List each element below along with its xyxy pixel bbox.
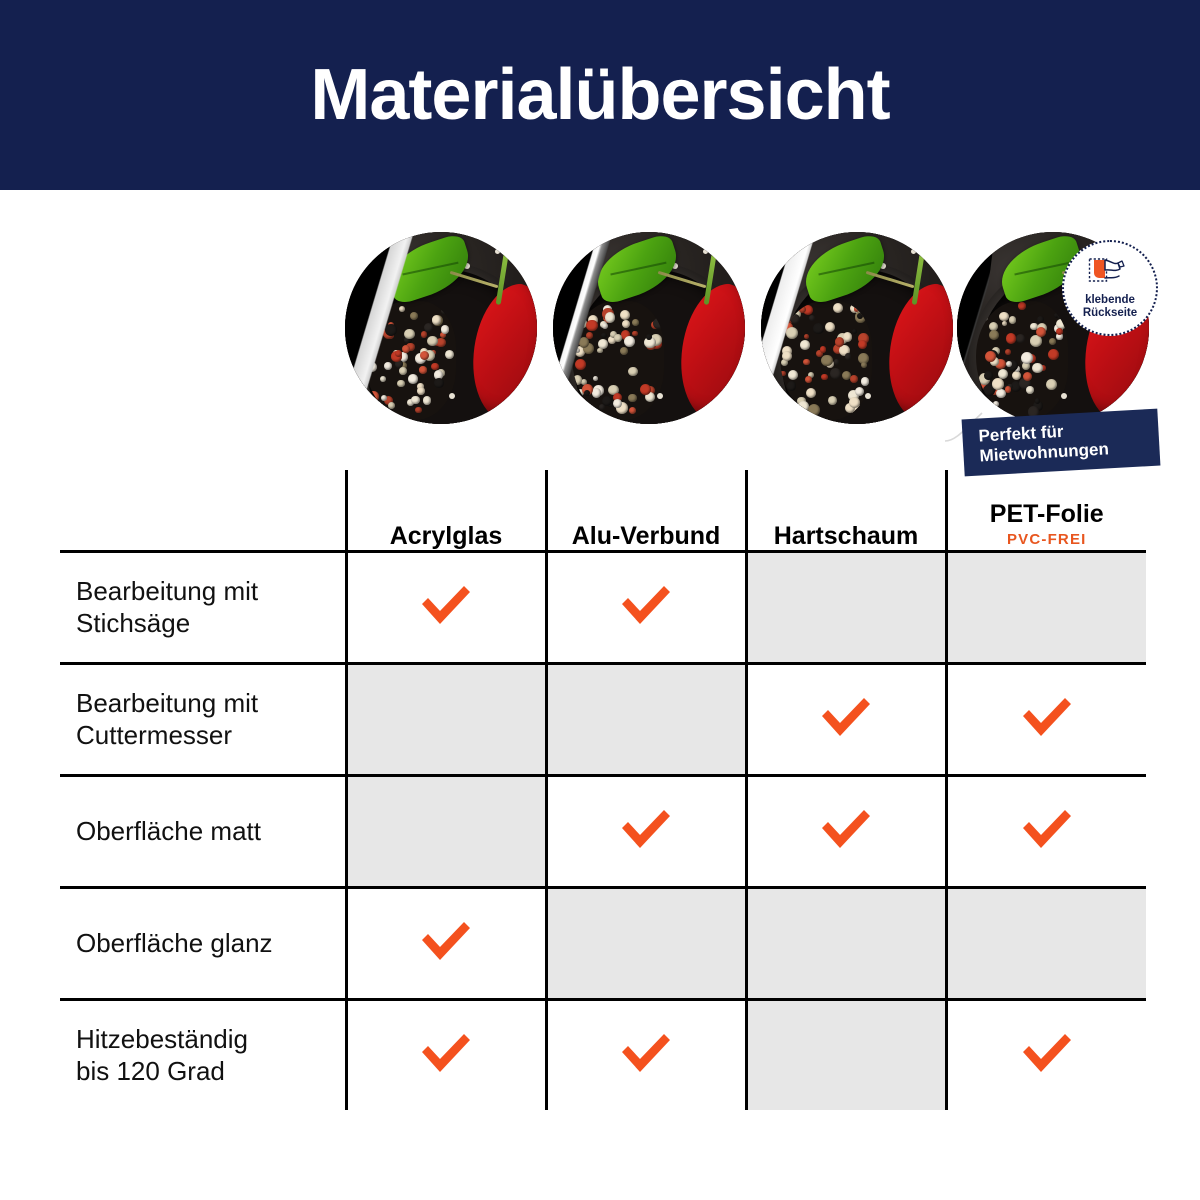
peppercorn: [445, 350, 454, 359]
mietwohnungen-ribbon: Perfekt für Mietwohnungen: [962, 409, 1161, 477]
peppercorn: [653, 404, 661, 412]
peppercorn: [992, 378, 1004, 390]
peppercorn: [632, 331, 638, 337]
cell-supported: [746, 664, 946, 776]
cell-supported: [546, 776, 746, 888]
peppercorn: [1006, 333, 1017, 344]
peppercorn: [646, 334, 652, 340]
cell-not-supported: [946, 888, 1146, 1000]
peppercorn: [1049, 338, 1056, 345]
table-row: Bearbeitung mitStichsäge: [60, 552, 1146, 664]
product-image-hartschaum: [761, 232, 953, 424]
peppercorn: [1023, 372, 1032, 381]
klebende-rueckseite-badge: klebende Rückseite: [1062, 240, 1158, 336]
peppercorn: [999, 312, 1009, 322]
cell-supported: [546, 552, 746, 664]
peel-sticker-icon: [1088, 257, 1132, 292]
peppercorn: [420, 351, 429, 360]
column-header-acrylglas: Acrylglas: [346, 470, 546, 552]
table-header-row: AcrylglasAlu-VerbundHartschaumPET-FolieP…: [60, 470, 1146, 552]
peppercorn: [423, 396, 431, 404]
peppercorn: [434, 378, 444, 388]
table-body: Bearbeitung mitStichsägeBearbeitung mitC…: [60, 552, 1146, 1111]
peppercorn: [417, 387, 425, 395]
column-header-pet-folie: PET-FoliePVC-FREI: [946, 470, 1146, 552]
cell-not-supported: [346, 664, 546, 776]
material-comparison-table: AcrylglasAlu-VerbundHartschaumPET-FolieP…: [60, 470, 1146, 1110]
peppercorn-speck: [657, 393, 663, 399]
row-label: Bearbeitung mitStichsäge: [60, 552, 346, 664]
badge-line-2: Rückseite: [1083, 307, 1137, 320]
peppercorn: [993, 401, 999, 407]
product-photo: [345, 232, 537, 424]
peppercorn: [1016, 334, 1025, 343]
peppercorn: [821, 374, 828, 381]
cell-not-supported: [746, 552, 946, 664]
peppercorn: [861, 377, 870, 386]
header-cell-label: [60, 470, 346, 552]
material-comparison-table-wrapper: AcrylglasAlu-VerbundHartschaumPET-FolieP…: [60, 470, 1146, 1110]
peppercorn: [850, 375, 858, 383]
peppercorn: [835, 337, 845, 347]
table-head: AcrylglasAlu-VerbundHartschaumPET-FolieP…: [60, 470, 1146, 552]
table-row: Hitzebeständigbis 120 Grad: [60, 1000, 1146, 1111]
peppercorn: [415, 407, 422, 414]
peppercorn: [441, 325, 449, 333]
peppercorn-speck: [449, 393, 455, 399]
peppercorn-speck: [1061, 393, 1067, 399]
cell-not-supported: [346, 776, 546, 888]
row-label-line-2: bis 120 Grad: [76, 1056, 345, 1088]
peppercorn: [629, 407, 636, 414]
peppercorn: [845, 353, 851, 359]
peppercorn: [1046, 379, 1057, 390]
column-header-name: Acrylglas: [348, 523, 545, 551]
peppercorn: [1035, 398, 1041, 404]
cell-not-supported: [946, 552, 1146, 664]
peppercorn: [989, 330, 999, 340]
peppercorn: [1048, 349, 1060, 361]
cell-supported: [946, 776, 1146, 888]
row-label: Oberfläche matt: [60, 776, 346, 888]
peppercorn: [1002, 321, 1007, 326]
peppercorn: [1026, 386, 1034, 394]
peppercorn: [1036, 327, 1046, 337]
peppercorn: [821, 355, 833, 367]
product-image-acrylglas: [345, 232, 537, 424]
row-label: Hitzebeständigbis 120 Grad: [60, 1000, 346, 1111]
cell-supported: [346, 888, 546, 1000]
peppercorn: [624, 336, 635, 347]
cell-supported: [346, 552, 546, 664]
peppercorn: [1005, 349, 1011, 355]
peppercorn: [1021, 352, 1033, 364]
peppercorn: [1032, 363, 1042, 373]
row-label-line-1: Oberfläche matt: [76, 816, 345, 848]
peppercorn: [628, 394, 636, 402]
peppercorn: [830, 368, 841, 379]
row-label-line-1: Oberfläche glanz: [76, 928, 345, 960]
peppercorn: [1009, 316, 1016, 323]
peppercorn: [833, 303, 843, 313]
column-header-badge: PVC-FREI: [948, 529, 1147, 550]
cell-supported: [746, 776, 946, 888]
peppercorn: [861, 362, 867, 368]
peppercorn: [1030, 335, 1042, 347]
peppercorn: [849, 397, 860, 408]
cell-not-supported: [746, 1000, 946, 1111]
cell-not-supported: [746, 888, 946, 1000]
peppercorn: [858, 340, 867, 349]
peppercorn: [984, 371, 993, 380]
peppercorn: [834, 359, 839, 364]
column-header-name: Alu-Verbund: [548, 523, 745, 551]
cell-not-supported: [546, 888, 746, 1000]
peppercorn: [855, 387, 865, 397]
cell-supported: [546, 1000, 746, 1111]
row-label: Bearbeitung mitCuttermesser: [60, 664, 346, 776]
badge-line-1: klebende: [1085, 294, 1135, 307]
product-photo: [761, 232, 953, 424]
row-label-line-1: Hitzebeständig: [76, 1024, 345, 1056]
peppercorn: [1018, 302, 1025, 309]
cell-supported: [346, 1000, 546, 1111]
peppercorn-speck: [865, 393, 871, 399]
row-label-line-2: Cuttermesser: [76, 720, 345, 752]
row-label-line-2: Stichsäge: [76, 608, 345, 640]
table-row: Oberfläche matt: [60, 776, 1146, 888]
table-row: Oberfläche glanz: [60, 888, 1146, 1000]
cell-supported: [946, 664, 1146, 776]
product-photo: [553, 232, 745, 424]
cell-supported: [946, 1000, 1146, 1111]
row-label-line-1: Bearbeitung mit: [76, 688, 345, 720]
peppercorn: [419, 366, 426, 373]
peppercorn: [1005, 386, 1012, 393]
peppercorn: [432, 315, 441, 324]
row-label-line-1: Bearbeitung mit: [76, 576, 345, 608]
peppercorn: [852, 329, 857, 334]
table-row: Bearbeitung mitCuttermesser: [60, 664, 1146, 776]
column-header-name: Hartschaum: [748, 523, 945, 551]
peppercorn: [1037, 316, 1044, 323]
row-label: Oberfläche glanz: [60, 888, 346, 1000]
peppercorn: [632, 319, 639, 326]
peppercorn: [828, 396, 837, 405]
header-banner: Materialübersicht: [0, 0, 1200, 190]
column-header-hartschaum: Hartschaum: [746, 470, 946, 552]
product-image-alu-verbund: [553, 232, 745, 424]
peppercorn: [628, 367, 638, 377]
cell-not-supported: [546, 664, 746, 776]
column-header-name: PET-Folie: [948, 501, 1147, 529]
column-header-alu-verbund: Alu-Verbund: [546, 470, 746, 552]
page-title: Materialübersicht: [310, 59, 889, 131]
